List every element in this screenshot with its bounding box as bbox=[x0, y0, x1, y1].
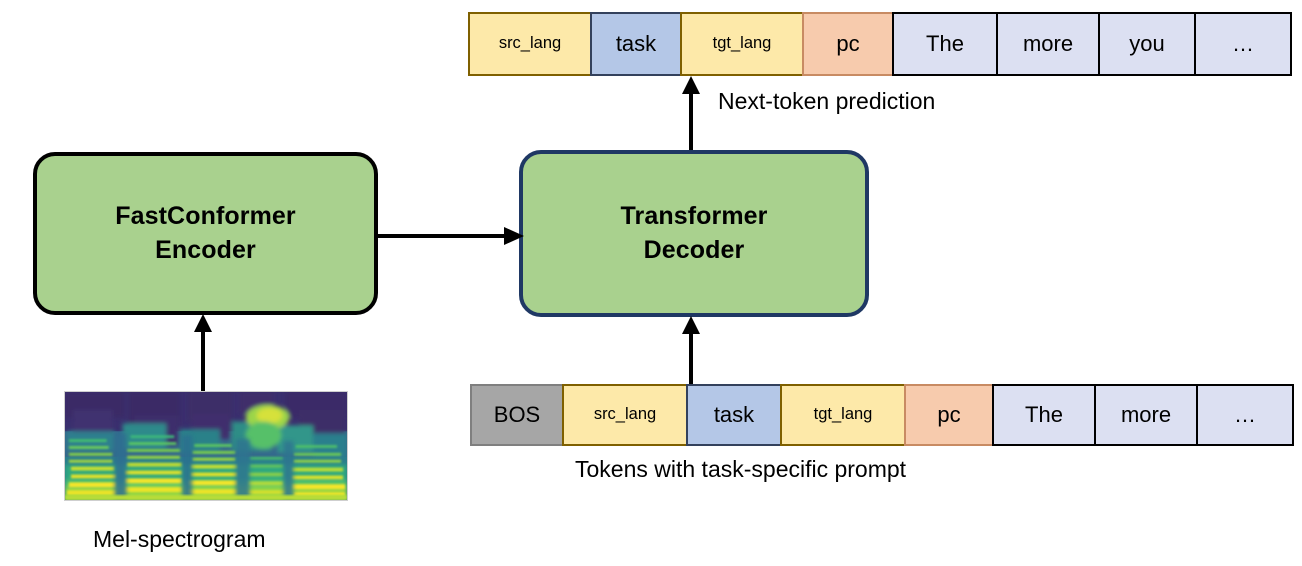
output-token-cell-label: src_lang bbox=[499, 35, 561, 52]
input-token-cell-label: BOS bbox=[494, 403, 540, 426]
caption-mel-spectrogram: Mel-spectrogram bbox=[93, 526, 266, 553]
input-token-row: BOSsrc_langtasktgt_langpcThemore… bbox=[470, 384, 1294, 446]
input-token-cell-4[interactable]: pc bbox=[904, 384, 994, 446]
arrow-tokens-to-decoder bbox=[676, 314, 708, 390]
decoder-label-line1: Transformer bbox=[621, 202, 768, 230]
caption-next-token-prediction: Next-token prediction bbox=[718, 88, 935, 115]
input-token-cell-5[interactable]: The bbox=[992, 384, 1096, 446]
encoder-label-line2: Encoder bbox=[155, 236, 256, 264]
encoder-label-line1: FastConformer bbox=[115, 202, 296, 230]
fastconformer-encoder-box[interactable]: FastConformer Encoder bbox=[33, 152, 378, 315]
spectrogram-canvas bbox=[65, 392, 347, 500]
arrow-spectrogram-to-encoder bbox=[188, 312, 220, 392]
output-token-cell-2[interactable]: tgt_lang bbox=[680, 12, 804, 76]
input-token-cell-6[interactable]: more bbox=[1094, 384, 1198, 446]
input-token-cell-label: task bbox=[714, 403, 754, 426]
input-token-cell-0[interactable]: BOS bbox=[470, 384, 564, 446]
output-token-cell-label: task bbox=[616, 32, 656, 55]
decoder-label-line2: Decoder bbox=[644, 236, 745, 264]
output-token-cell-3[interactable]: pc bbox=[802, 12, 894, 76]
output-token-cell-label: pc bbox=[836, 32, 859, 55]
output-token-row: src_langtasktgt_langpcThemoreyou… bbox=[468, 12, 1292, 76]
arrow-encoder-to-decoder bbox=[376, 222, 526, 250]
diagram-canvas: src_langtasktgt_langpcThemoreyou… Next-t… bbox=[0, 0, 1302, 566]
output-token-cell-7[interactable]: … bbox=[1194, 12, 1292, 76]
input-token-cell-label: pc bbox=[937, 403, 960, 426]
arrow-decoder-to-output bbox=[676, 74, 708, 154]
output-token-cell-5[interactable]: more bbox=[996, 12, 1100, 76]
output-token-cell-6[interactable]: you bbox=[1098, 12, 1196, 76]
decoder-label: Transformer Decoder bbox=[621, 200, 768, 268]
input-token-cell-label: src_lang bbox=[594, 406, 656, 423]
input-token-cell-2[interactable]: task bbox=[686, 384, 782, 446]
output-token-cell-4[interactable]: The bbox=[892, 12, 998, 76]
output-token-cell-label: more bbox=[1023, 32, 1073, 55]
input-token-cell-1[interactable]: src_lang bbox=[562, 384, 688, 446]
input-token-cell-label: … bbox=[1234, 403, 1256, 426]
input-token-cell-label: tgt_lang bbox=[814, 406, 873, 423]
input-token-cell-label: The bbox=[1025, 403, 1063, 426]
output-token-cell-label: The bbox=[926, 32, 964, 55]
output-token-cell-label: you bbox=[1129, 32, 1164, 55]
input-token-cell-3[interactable]: tgt_lang bbox=[780, 384, 906, 446]
encoder-label: FastConformer Encoder bbox=[115, 200, 296, 268]
input-token-cell-label: more bbox=[1121, 403, 1171, 426]
input-token-cell-7[interactable]: … bbox=[1196, 384, 1294, 446]
output-token-cell-label: … bbox=[1232, 32, 1254, 55]
output-token-cell-label: tgt_lang bbox=[713, 35, 772, 52]
transformer-decoder-box[interactable]: Transformer Decoder bbox=[519, 150, 869, 317]
mel-spectrogram-image bbox=[64, 391, 348, 501]
output-token-cell-0[interactable]: src_lang bbox=[468, 12, 592, 76]
caption-tokens-with-prompt: Tokens with task-specific prompt bbox=[575, 456, 906, 483]
output-token-cell-1[interactable]: task bbox=[590, 12, 682, 76]
